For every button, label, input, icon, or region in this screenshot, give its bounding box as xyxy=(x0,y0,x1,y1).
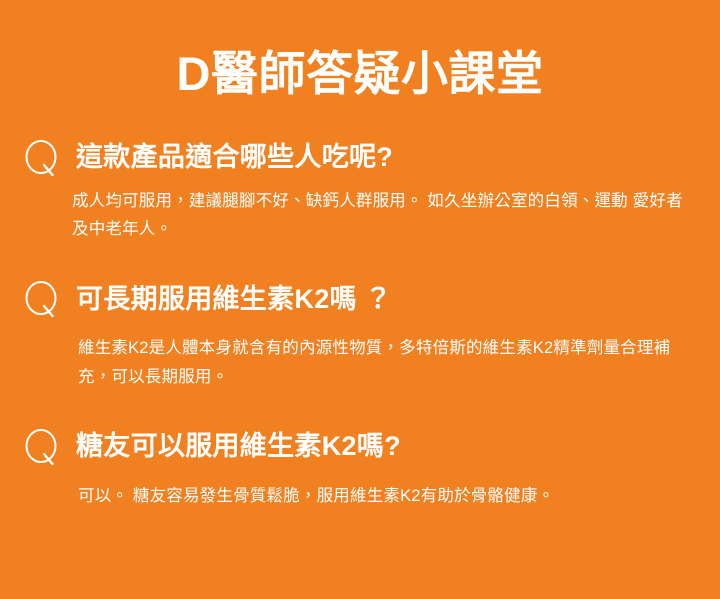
faq-question-row: 可長期服用維生素K2嗎 ？ xyxy=(22,277,702,321)
question-mark-q-icon xyxy=(22,277,62,321)
faq-answer-text: 可以。 糖友容易發生骨質鬆脆，服用維生素K2有助於骨骼健康。 xyxy=(78,482,698,510)
faq-answer-text: 成人均可服用，建議腿腳不好、缺鈣人群服用。 如久坐辦公室的白領、運動 愛好者及中… xyxy=(72,187,692,244)
faq-item: 可長期服用維生素K2嗎 ？ 維生素K2是人體本身就含有的內源性物質，多特倍斯的維… xyxy=(22,277,702,391)
page-header: D醫師答疑小課堂 xyxy=(0,0,720,101)
faq-answer-text: 維生素K2是人體本身就含有的內源性物質，多特倍斯的維生素K2精準劑量合理補充，可… xyxy=(78,334,698,391)
faq-item: 糖友可以服用維生素K2嗎? 可以。 糖友容易發生骨質鬆脆，服用維生素K2有助於骨… xyxy=(22,425,702,510)
faq-question-text: 這款產品適合哪些人吃呢? xyxy=(76,141,393,175)
faq-list: 這款產品適合哪些人吃呢? 成人均可服用，建議腿腳不好、缺鈣人群服用。 如久坐辦公… xyxy=(0,136,720,511)
faq-question-row: 這款產品適合哪些人吃呢? xyxy=(22,136,702,180)
question-mark-q-icon xyxy=(22,425,62,469)
faq-item: 這款產品適合哪些人吃呢? 成人均可服用，建議腿腳不好、缺鈣人群服用。 如久坐辦公… xyxy=(22,136,702,244)
faq-question-text: 可長期服用維生素K2嗎 ？ xyxy=(76,283,392,317)
faq-question-row: 糖友可以服用維生素K2嗎? xyxy=(22,425,702,469)
faq-page: D醫師答疑小課堂 這款產品適合哪些人吃呢? 成人均可服用，建議腿腳不好、缺鈣人群… xyxy=(0,0,720,599)
faq-question-text: 糖友可以服用維生素K2嗎? xyxy=(76,430,401,464)
page-title: D醫師答疑小課堂 xyxy=(0,48,720,101)
question-mark-q-icon xyxy=(22,136,62,180)
